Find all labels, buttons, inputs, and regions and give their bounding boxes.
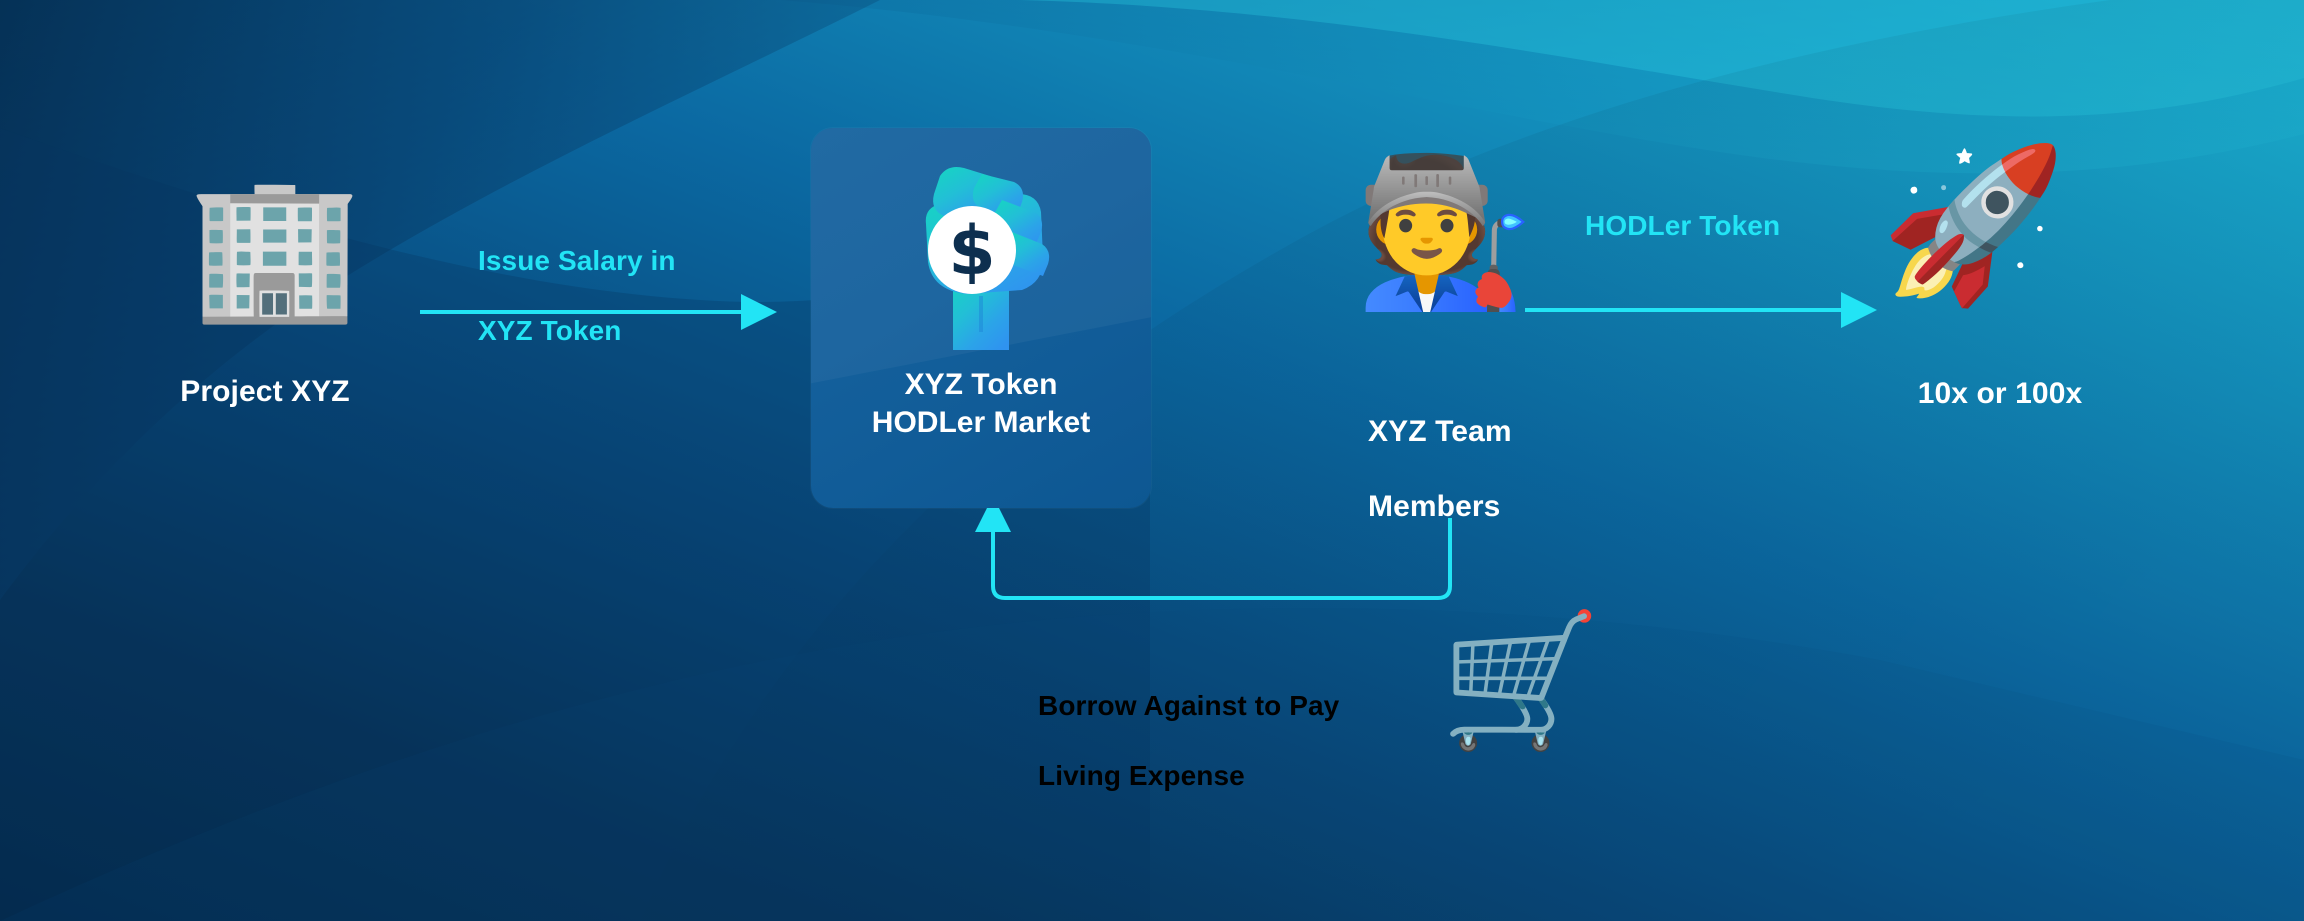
svg-text:$: $ (948, 212, 995, 291)
edge-issue-salary-label-line1: Issue Salary in (478, 243, 778, 278)
office-building-icon: 🏢 (188, 178, 362, 318)
node-xyz-team-members-label: XYZ Team Members (1368, 375, 1708, 563)
node-market-label-line2: HODLer Market (811, 404, 1151, 442)
diagram-canvas: 🏢 Project XYZ Issue Salary in XYZ Token (0, 0, 2304, 921)
raised-fist-dollar-icon: $ (896, 154, 1066, 354)
node-expense-label-line1: Borrow Against to Pay (1038, 688, 1468, 723)
node-moon-label: 10x or 100x (1850, 375, 2150, 413)
node-expense-label-line2: Living Expense (1038, 758, 1468, 793)
node-project-xyz: 🏢 (150, 160, 380, 400)
node-expense-cart: 🛒 (1440, 615, 1600, 775)
node-market-label-line1: XYZ Token (811, 366, 1151, 404)
node-expense-label: Borrow Against to Pay Living Expense (1038, 653, 1468, 828)
node-xyz-team-members: 🧑‍🏭 (1355, 160, 1555, 370)
node-team-label-line1: XYZ Team (1368, 413, 1708, 451)
edge-issue-salary-label: Issue Salary in XYZ Token (478, 208, 778, 383)
node-moon-10x-100x: 🚀 (1880, 150, 2080, 370)
factory-worker-icon: 🧑‍🏭 (1355, 160, 1536, 305)
edge-issue-salary-label-line2: XYZ Token (478, 313, 778, 348)
node-market-label: XYZ Token HODLer Market (811, 366, 1151, 443)
node-xyz-token-hodler-market[interactable]: $ XYZ Token HODLer Market (811, 128, 1151, 508)
rocket-icon: 🚀 (1880, 150, 2067, 300)
shopping-cart-icon: 🛒 (1440, 615, 1602, 745)
node-project-xyz-label: Project XYZ (110, 373, 420, 411)
node-team-label-line2: Members (1368, 488, 1708, 526)
